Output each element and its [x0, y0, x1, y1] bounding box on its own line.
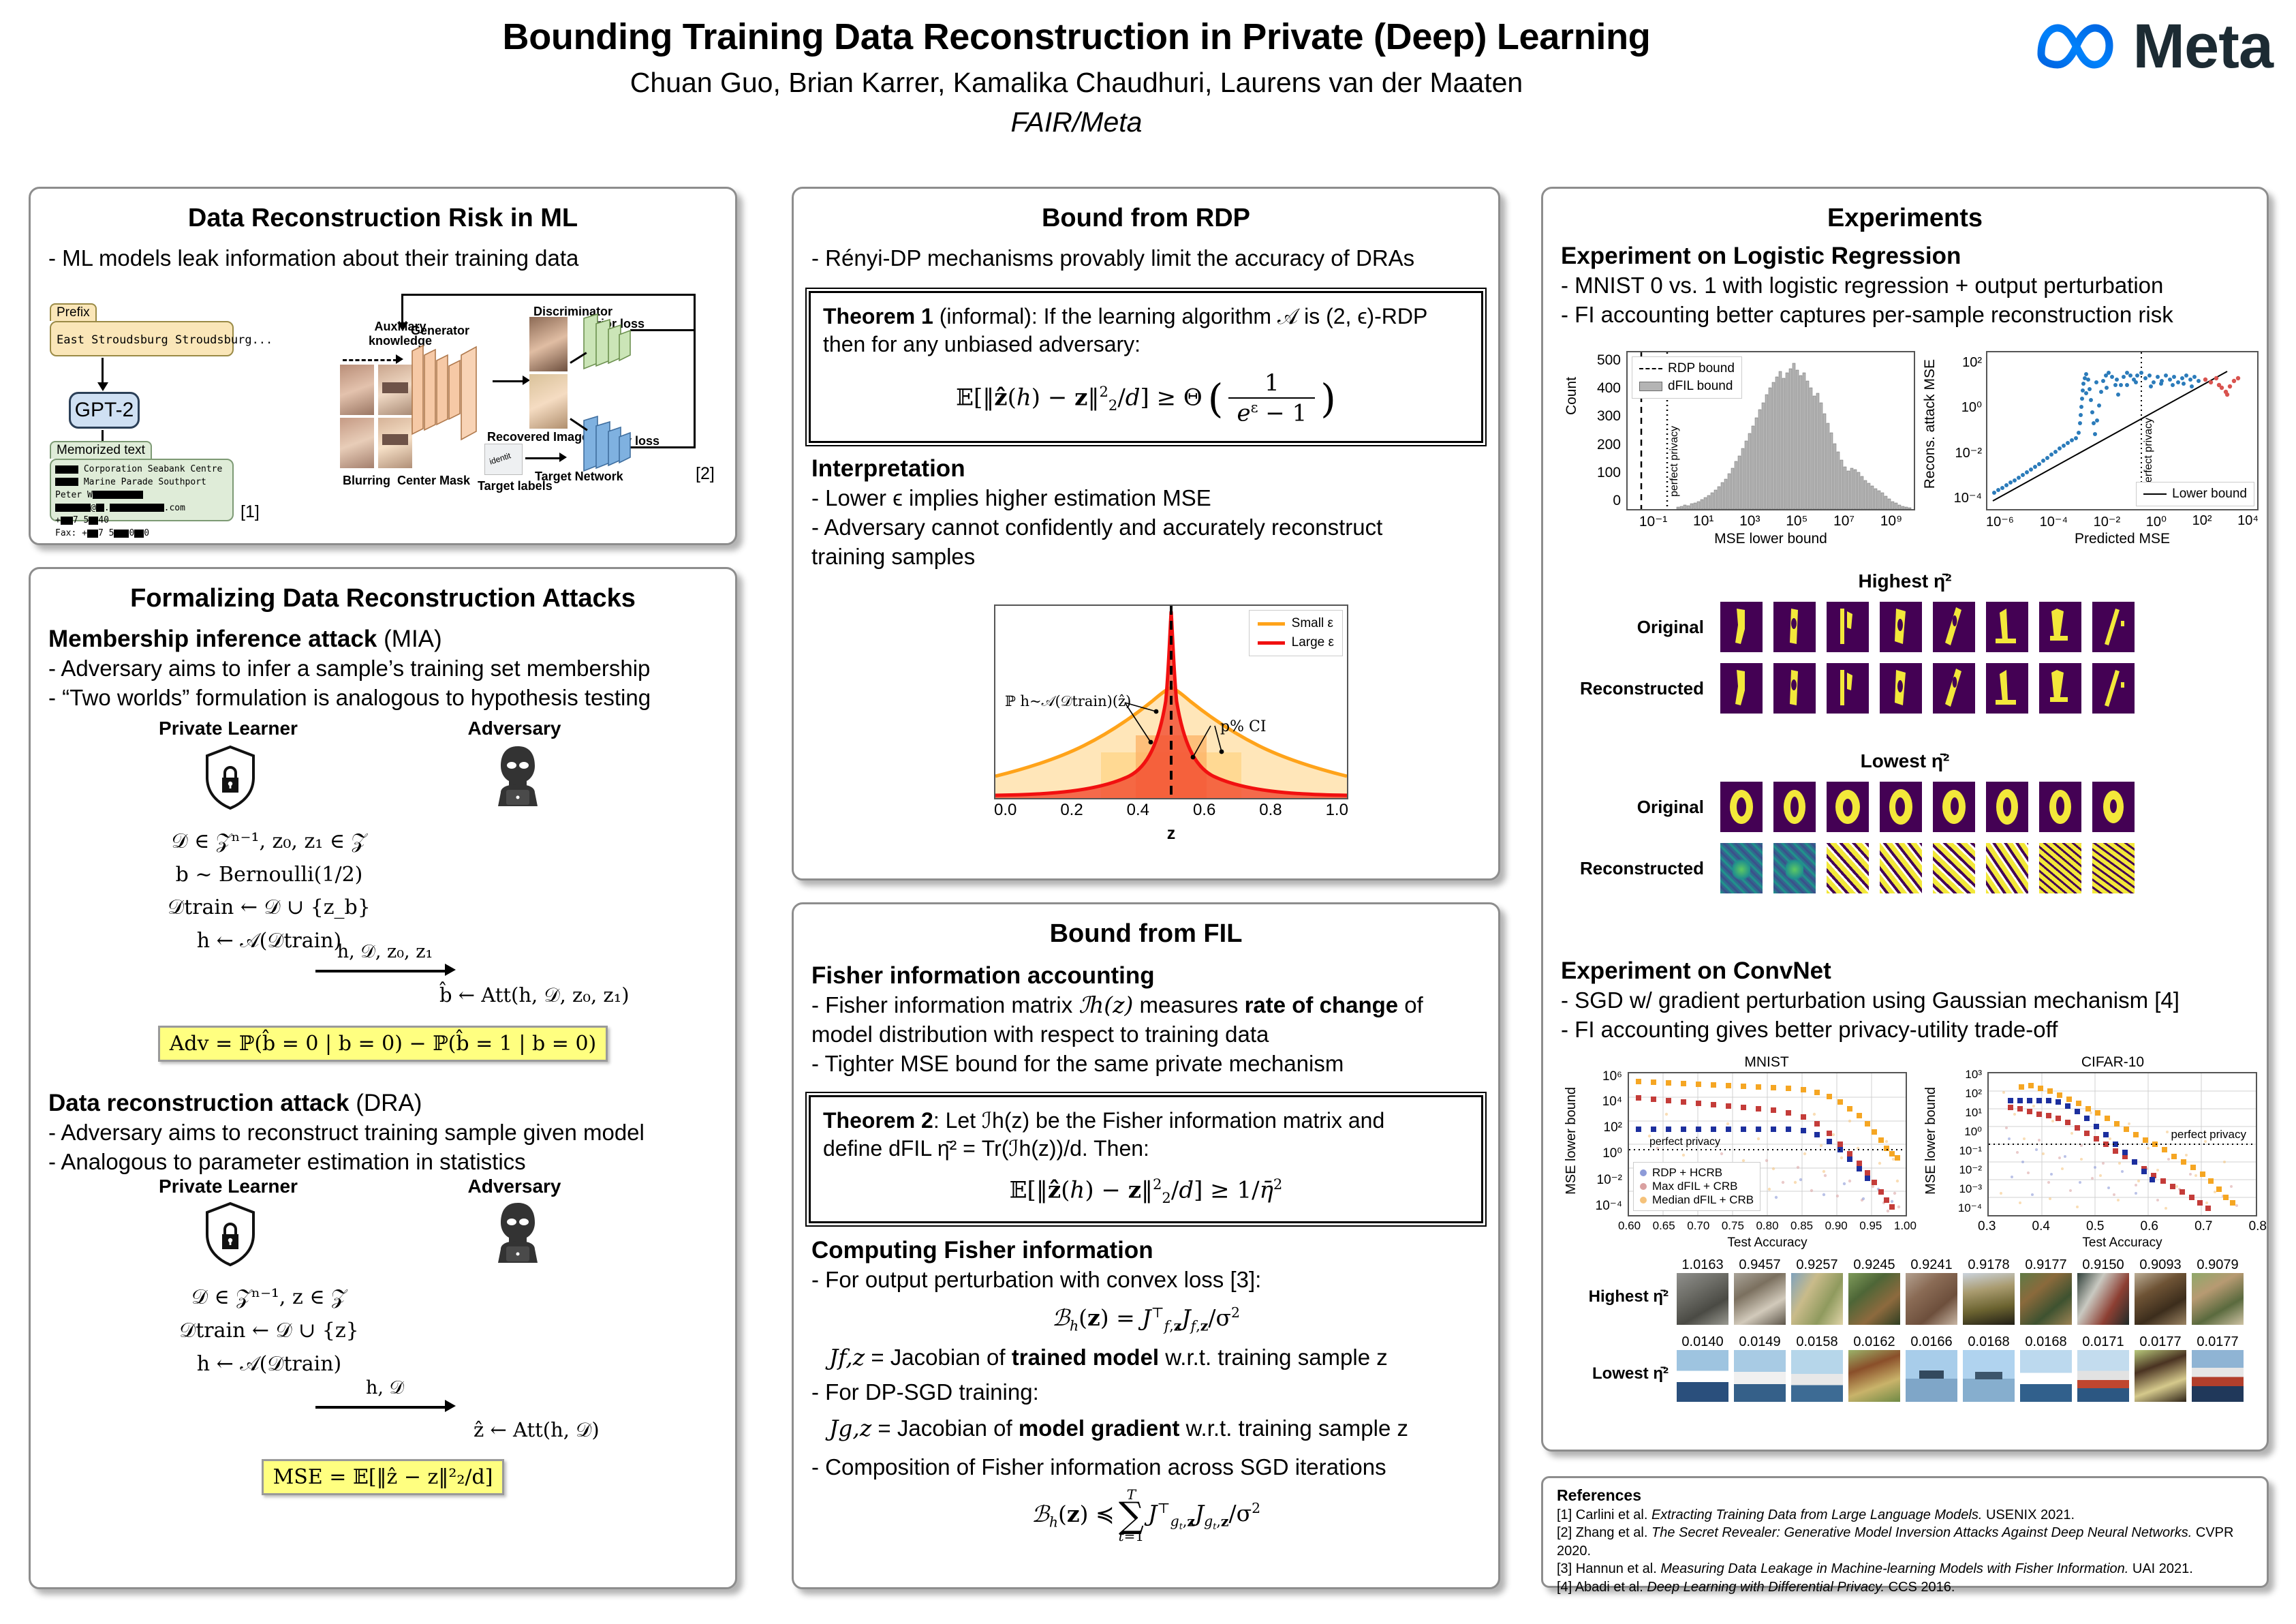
legend-label-large-eps: Large ε — [1292, 635, 1334, 650]
dra-bullet-1: - Adversary aims to reconstruct training… — [48, 1118, 645, 1148]
cifar-xlabel: Test Accuracy — [1987, 1236, 2257, 1251]
convnet-bullet-2: - FI accounting gives better privacy-uti… — [1561, 1015, 2179, 1045]
xtick: 0.4 — [2032, 1219, 2050, 1234]
xtick: 10⁰ — [2146, 513, 2167, 530]
cifar-thumb — [1791, 1273, 1843, 1325]
theorem-2-line-2: define dFIL η̄² = Tr(ℐh(z))/d. Then: — [823, 1135, 1469, 1163]
cifar-item: 0.9178 — [1963, 1257, 2015, 1325]
mnist-yticks: 10⁶ 10⁴ 10² 10⁰ 10⁻² 10⁻⁴ — [1577, 1069, 1622, 1214]
cifar-item: 0.0168 — [2020, 1334, 2072, 1402]
cifar-plot-area: perfect privacy — [1987, 1072, 2257, 1216]
mnist-original-row-low: Original — [1543, 782, 2267, 832]
convnet-section: Experiment on ConvNet - SGD w/ gradient … — [1543, 957, 2197, 1045]
ref-title: Measuring Data Leakage in Machine-learni… — [1660, 1561, 2128, 1576]
row-label-original: Original — [1543, 797, 1720, 818]
ytick: 500 — [1597, 352, 1621, 369]
mem-line-1: Corporation Seabank Centre — [84, 464, 223, 474]
cifar-thumb — [1848, 1350, 1900, 1402]
memorized-text: Corporation Seabank Centre Marine Parade… — [51, 460, 232, 540]
cifar-value: 0.9177 — [2020, 1257, 2072, 1273]
fi-accounting-section: Fisher information accounting - Fisher i… — [794, 962, 1498, 1079]
dra-arrow-head — [445, 1400, 456, 1412]
memorized-bubble: Memorized text Corporation Seabank Centr… — [50, 459, 234, 521]
xtick: 0.70 — [1687, 1219, 1709, 1233]
meta-infinity-icon — [2034, 18, 2119, 74]
cifar-value: 0.9457 — [1734, 1257, 1786, 1273]
digit-tile — [1933, 782, 1975, 832]
xtick: 1.00 — [1894, 1219, 1917, 1233]
scatter-legend: Lower bound — [2136, 482, 2254, 506]
ref-title: Deep Learning with Differential Privacy. — [1647, 1580, 1884, 1595]
mia-arrow-head — [445, 964, 456, 976]
fi-b1-a: - Fisher information matrix — [811, 992, 1079, 1017]
digit-tile — [1880, 602, 1922, 652]
panel-references: References [1] Carlini et al. Extracting… — [1541, 1476, 2269, 1588]
row-label-original: Original — [1543, 617, 1720, 638]
panel-title: Experiments — [1543, 204, 2267, 233]
cifar-item: 0.0140 — [1677, 1334, 1728, 1402]
prefix-text: East Stroudsburg Stroudsburg... — [51, 322, 232, 347]
figure-model-inversion: Auxiliary knowledge Generator Discrimina… — [317, 288, 719, 524]
mnist-highest-group: Highest η̄² Original Reconstructed — [1543, 570, 2267, 714]
interpretation-line-3: training samples — [811, 542, 1480, 572]
xtick: 0.4 — [1127, 801, 1149, 820]
cifar-item: 0.9257 — [1791, 1257, 1843, 1325]
ytick: 10³ — [1965, 1068, 1982, 1082]
theorem-2-box: Theorem 2: Let ℐh(z) be the Fisher infor… — [809, 1095, 1483, 1223]
mia-section: Membership inference attack (MIA) - Adve… — [31, 626, 735, 713]
ytick: 400 — [1597, 380, 1621, 397]
cifar-item: 1.0163 — [1677, 1257, 1728, 1325]
xtick: 10⁹ — [1880, 513, 1902, 530]
panel-formalizing-attacks: Formalizing Data Reconstruction Attacks … — [29, 567, 737, 1589]
logreg-heading: Experiment on Logistic Regression — [1561, 243, 2249, 270]
feedback-wire-right — [694, 294, 696, 448]
legend-item-max-dfil: Max dFIL + CRB — [1640, 1180, 1754, 1193]
mia-equations: 𝒟 ∈ 𝒵ⁿ⁻¹, z₀, z₁ ∈ 𝒵 b ~ Bernoulli(1/2) … — [106, 825, 433, 957]
digit-tile — [1827, 602, 1869, 652]
generator-label: Generator — [411, 324, 469, 338]
jacobian-g-symbol: Jg,z — [829, 1415, 871, 1441]
xtick: 0.75 — [1722, 1219, 1744, 1233]
legend-swatch-max-dfil — [1640, 1183, 1647, 1190]
cifar-value: 1.0163 — [1677, 1257, 1728, 1273]
hist-legend: RDP bound dFIL bound — [1632, 356, 1742, 399]
cifar-item: 0.9093 — [2135, 1257, 2186, 1325]
recovered-images-label: Recovered Images — [487, 430, 595, 444]
ytick: 10¹ — [1965, 1106, 1982, 1120]
ytick: 10² — [1962, 355, 1982, 371]
xtick: 10⁻² — [2094, 513, 2120, 530]
legend-item-rdp-bound: RDP bound — [1639, 361, 1735, 376]
mnist-lowest-group: Lowest η̄² Original Reconstructed — [1543, 750, 2267, 893]
mia-arrow-label: h, 𝒟, z₀, z₁ — [290, 941, 480, 963]
xtick: 0.80 — [1756, 1219, 1778, 1233]
digit-tile — [1933, 602, 1975, 652]
scatter-xticks: 10⁻⁶ 10⁻⁴ 10⁻² 10⁰ 10² 10⁴ — [1986, 513, 2259, 530]
labels-arrow-head — [559, 453, 567, 462]
cifar-thumb — [1906, 1273, 1957, 1325]
xtick: 0.95 — [1859, 1219, 1882, 1233]
ytick: 10⁻¹ — [1959, 1144, 1982, 1158]
cifar-thumb — [2020, 1273, 2072, 1325]
cifar-item: 0.0162 — [1848, 1334, 1900, 1402]
center-mask-label: Center Mask — [397, 474, 470, 488]
theorem-1-text-1: (informal): If the learning algorithm 𝒜 … — [933, 304, 1428, 328]
interpretation-line-1: - Lower ϵ implies higher estimation MSE — [811, 484, 1480, 513]
mia-bullet-1: - Adversary aims to infer a sample’s tra… — [48, 654, 717, 684]
legend-item-dfil-bound: dFIL bound — [1639, 379, 1735, 394]
cifar-annotation-perfect-privacy: perfect privacy — [2171, 1128, 2246, 1142]
cifar-item: 0.9177 — [2020, 1257, 2072, 1325]
aux-face-mask-1 — [378, 365, 412, 415]
fi-bullet-1: - Fisher information matrix ℐh(z) measur… — [811, 991, 1480, 1020]
fi-b1-e: of — [1398, 992, 1423, 1017]
mia-eq-3: 𝒟train ← 𝒟 ∪ {z_b} — [106, 891, 433, 925]
xtick: 0.5 — [2086, 1219, 2104, 1234]
mnist-plot-area: perfect privacy RDP + HCRB Max dFIL + CR… — [1628, 1072, 1907, 1216]
legend-swatch-small-eps — [1258, 622, 1285, 626]
dra-bullet-2: - Analogous to parameter estimation in s… — [48, 1148, 645, 1177]
digit-tile — [2092, 602, 2135, 652]
density-xlabel: z — [994, 824, 1348, 844]
rdp-bullet: - Rényi-DP mechanisms provably limit the… — [794, 244, 1498, 273]
ytick: 10⁰ — [1964, 1125, 1982, 1139]
dra-arrow-label: h, 𝒟 — [303, 1377, 467, 1399]
hist-xlabel: MSE lower bound — [1626, 531, 1915, 547]
theorem-2-label: Theorem 2 — [823, 1108, 933, 1133]
fi-b1-math: ℐh(z) — [1079, 992, 1133, 1018]
dra-equations: 𝒟 ∈ 𝒵ⁿ⁻¹, z ∈ 𝒵 𝒟train ← 𝒟 ∪ {z} h ← 𝒜(𝒟… — [106, 1281, 433, 1381]
cifar-value: 0.9079 — [2192, 1257, 2244, 1273]
legend-item-rdp-hcrb: RDP + HCRB — [1640, 1166, 1754, 1180]
scatter-annotation-perfect-privacy: perfect privacy — [2143, 418, 2155, 489]
theorem-2-line-1: Theorem 2: Let ℐh(z) be the Fisher infor… — [823, 1107, 1469, 1135]
ytick: 10⁻⁴ — [1954, 489, 1982, 506]
computing-line-3: Jg,z = Jacobian of model gradient w.r.t.… — [829, 1414, 1480, 1443]
cifar-item: 0.0166 — [1906, 1334, 1957, 1402]
density-annotation-ci: p% CI — [1220, 718, 1267, 735]
mia-diagram: Private Learner Adversary 𝒟 ∈ 𝒵ⁿ⁻¹, z₀, … — [31, 718, 735, 1072]
panel-bound-from-rdp: Bound from RDP - Rényi-DP mechanisms pro… — [792, 187, 1500, 880]
scatter-yticks: 10² 10⁰ 10⁻² 10⁻⁴ — [1938, 355, 1982, 506]
digit-tile-noisy — [1827, 843, 1869, 893]
xtick: 0.2 — [1060, 801, 1083, 820]
ytick: 10⁴ — [1602, 1094, 1622, 1109]
legend-label-median-dfil: Median dFIL + CRB — [1652, 1193, 1754, 1207]
cifar-value: 0.9241 — [1906, 1257, 1957, 1273]
dra-heading-bold: Data reconstruction attack — [48, 1090, 350, 1116]
cifar-value: 0.9093 — [2135, 1257, 2186, 1273]
prefix-tag: Prefix — [50, 303, 97, 321]
digit-tile — [1880, 782, 1922, 832]
reference-item: [4] Abadi et al. Deep Learning with Diff… — [1557, 1578, 2253, 1596]
cifar-value: 0.0171 — [2077, 1334, 2129, 1350]
cifar-item: 0.9245 — [1848, 1257, 1900, 1325]
computing-bullet-3: - Composition of Fisher information acro… — [811, 1453, 1480, 1482]
title-block: Bounding Training Data Reconstruction in… — [204, 16, 1949, 138]
xtick: 10³ — [1739, 513, 1760, 530]
panel-title: Data Reconstruction Risk in ML — [31, 204, 735, 233]
xtick: 10⁴ — [2237, 513, 2259, 530]
mnist-original-row-high: Original — [1543, 602, 2267, 652]
theorem-1-line-1: Theorem 1 (informal): If the learning al… — [823, 303, 1469, 331]
xtick: 0.6 — [1193, 801, 1215, 820]
ytick: 10⁻² — [1959, 1163, 1982, 1177]
aux-arrow-head — [396, 354, 403, 364]
hist-yticks: 500 400 300 200 100 0 — [1579, 352, 1621, 509]
digit-tile — [1720, 782, 1763, 832]
digit-tile — [2039, 782, 2081, 832]
digit-tile-noisy — [1986, 843, 2028, 893]
legend-swatch-rdp-hcrb — [1640, 1169, 1647, 1176]
cifar-yticks: 10³ 10² 10¹ 10⁰ 10⁻¹ 10⁻² 10⁻³ 10⁻⁴ — [1937, 1068, 1982, 1215]
blurring-label: Blurring — [343, 474, 390, 488]
ytick: 10⁰ — [1602, 1146, 1622, 1161]
xtick: 10² — [2192, 513, 2212, 530]
legend-label-dfil: dFIL bound — [1668, 379, 1733, 394]
cifar-item: 0.0177 — [2135, 1334, 2186, 1402]
digit-tile — [1773, 602, 1816, 652]
c-l2-d: w.r.t. training sample z — [1159, 1345, 1388, 1370]
computing-bullet-2: - For DP-SGD training: — [811, 1378, 1480, 1407]
fi-b1-c: measures — [1133, 992, 1244, 1017]
cifar-thumb — [1963, 1350, 2015, 1402]
mnist-xlabel: Test Accuracy — [1628, 1236, 1907, 1251]
cifar-highest-row: Highest η̄² 1.0163 0.9457 0.9257 0.9245 … — [1555, 1257, 2261, 1325]
hacker-icon — [488, 744, 547, 812]
ref-num: [4] — [1557, 1580, 1575, 1595]
mnist-recon-row-high: Reconstructed — [1543, 663, 2267, 714]
theorem-1-label: Theorem 1 — [823, 304, 933, 328]
ref-title: Extracting Training Data from Large Lang… — [1651, 1507, 1982, 1522]
theorem-2-equation: 𝔼[‖ẑ(h) − z‖22/d] ≥ 1/η̄2 — [823, 1176, 1469, 1206]
xtick: 0.3 — [1978, 1219, 1996, 1234]
panel-data-reconstruction-risk: Data Reconstruction Risk in ML - ML mode… — [29, 187, 737, 545]
xtick: 0.65 — [1653, 1219, 1675, 1233]
cifar-item: 0.9241 — [1906, 1257, 1957, 1325]
cifar-thumb — [1963, 1273, 2015, 1325]
legend-swatch-large-eps — [1258, 641, 1285, 645]
theorem-1-equation: 𝔼[‖ẑ(h) − z‖22/d] ≥ Θ ( 1 eε − 1 ) — [823, 371, 1469, 426]
xtick: 0.6 — [2141, 1219, 2158, 1234]
gpt2-box: GPT-2 — [69, 392, 140, 429]
mnist-tiles-original-high — [1720, 602, 2135, 652]
cifar-thumb — [2077, 1273, 2129, 1325]
mia-adversary-label: Adversary — [439, 718, 589, 739]
ytick: 10² — [1604, 1120, 1622, 1135]
cifar-thumb — [2077, 1350, 2129, 1402]
cifar-xticks: 0.3 0.4 0.5 0.6 0.7 0.8 — [1978, 1219, 2267, 1234]
panel-title: Formalizing Data Reconstruction Attacks — [31, 584, 735, 613]
cifar-value: 0.9257 — [1791, 1257, 1843, 1273]
target-labels-thumb: identit — [484, 444, 523, 475]
digit-tile-noisy — [1720, 843, 1763, 893]
row-label-reconstructed: Reconstructed — [1543, 858, 1720, 879]
digit-tile — [1773, 663, 1816, 714]
generator-slabs-icon — [409, 339, 498, 448]
digit-tile — [1986, 782, 2028, 832]
cifar-item: 0.0158 — [1791, 1334, 1843, 1402]
theorem-1-box: Theorem 1 (informal): If the learning al… — [809, 291, 1483, 443]
cifar-value: 0.0149 — [1734, 1334, 1786, 1350]
cifar-thumb — [2135, 1273, 2186, 1325]
ytick: 10⁻³ — [1959, 1182, 1982, 1196]
mia-heading: Membership inference attack (MIA) — [48, 626, 717, 653]
dra-diagram: Private Learner Adversary 𝒟 ∈ 𝒵ⁿ⁻¹, z ∈ … — [31, 1176, 735, 1503]
ytick: 10⁻⁴ — [1596, 1198, 1622, 1214]
digit-tile — [2092, 663, 2135, 714]
computing-equation-1: ℬh(z) = J⊤f,zJf,z/σ2 — [811, 1304, 1480, 1334]
digit-tile-noisy — [1773, 843, 1816, 893]
mnist-recon-row-low: Reconstructed — [1543, 843, 2267, 893]
cifar-value: 0.0166 — [1906, 1334, 1957, 1350]
legend-item-median-dfil: Median dFIL + CRB — [1640, 1193, 1754, 1207]
digit-tile-noisy — [2092, 843, 2135, 893]
xtick: 0.0 — [994, 801, 1017, 820]
mse-definition-box: MSE = 𝔼[‖ẑ − z‖²₂/d] — [262, 1459, 505, 1495]
cifar-lowest-label: Lowest η̄² — [1555, 1334, 1677, 1383]
cifar-points — [1989, 1073, 2256, 1215]
mnist-tiles-recon-low — [1720, 843, 2135, 893]
cifar-chart-title: CIFAR-10 — [1990, 1054, 2235, 1071]
xtick: 1.0 — [1326, 801, 1348, 820]
discriminator-slabs-icon — [581, 313, 642, 378]
mnist-chart-title: MNIST — [1644, 1054, 1889, 1071]
row-label-reconstructed: Reconstructed — [1543, 678, 1720, 699]
scatter-ylabel: Recons. attack MSE — [1922, 359, 1938, 489]
ytick: 10² — [1965, 1087, 1982, 1101]
cifar-item: 0.9457 — [1734, 1257, 1786, 1325]
cifar-value: 0.0158 — [1791, 1334, 1843, 1350]
mia-heading-rest: (MIA) — [377, 626, 441, 652]
aux-dashed-arrow — [343, 359, 397, 361]
reference-item: [2] Zhang et al. The Secret Revealer: Ge… — [1557, 1524, 2253, 1560]
hist-xticks: 10⁻¹ 10¹ 10³ 10⁵ 10⁷ 10⁹ — [1626, 513, 1915, 530]
ytick: 10⁶ — [1602, 1069, 1622, 1084]
hacker-icon — [488, 1200, 547, 1268]
mia-eq-2: b ~ Bernoulli(1/2) — [106, 859, 433, 892]
dra-eq-2: 𝒟train ← 𝒟 ∪ {z} — [106, 1314, 433, 1347]
xtick: 0.7 — [2194, 1219, 2212, 1234]
interpretation-section: Interpretation - Lower ϵ implies higher … — [794, 455, 1498, 572]
gen-out-arrow — [493, 380, 524, 382]
cifar-item: 0.0149 — [1734, 1334, 1786, 1402]
author-list: Chuan Guo, Brian Karrer, Kamalika Chaudh… — [204, 67, 1949, 99]
xtick: 10⁻⁶ — [1986, 513, 2014, 530]
cifar-thumb — [1791, 1350, 1843, 1402]
logreg-bullet-2: - FI accounting better captures per-samp… — [1561, 301, 2249, 330]
digit-tile — [1720, 663, 1763, 714]
references-title: References — [1557, 1486, 2253, 1505]
cifar-value: 0.9150 — [2077, 1257, 2129, 1273]
dra-heading: Data reconstruction attack (DRA) — [48, 1090, 645, 1117]
legend-item-small-eps: Small ε — [1258, 616, 1334, 631]
convnet-heading: Experiment on ConvNet — [1561, 957, 2179, 985]
mia-heading-bold: Membership inference attack — [48, 626, 377, 652]
cifar-thumb — [1734, 1273, 1786, 1325]
ytick: 100 — [1597, 465, 1621, 481]
cifar-lowest-row: Lowest η̄² 0.0140 0.0149 0.0158 0.0162 0… — [1555, 1334, 2261, 1402]
computing-fi-section: Computing Fisher information - For outpu… — [794, 1237, 1498, 1542]
cifar-value: 0.0140 — [1677, 1334, 1728, 1350]
logreg-section: Experiment on Logistic Regression - MNIS… — [1543, 243, 2267, 330]
mia-bullet-2: - “Two worlds” formulation is analogous … — [48, 684, 717, 713]
chart-mnist-tradeoff: MNIST MSE lower bound 10⁶ 10⁴ 10² 10⁰ 10… — [1562, 1054, 1917, 1259]
xtick: 10⁻¹ — [1639, 513, 1667, 530]
legend-label-rdp-hcrb: RDP + HCRB — [1652, 1166, 1722, 1180]
mnist-highest-title: Highest η̄² — [1543, 570, 2267, 592]
aux-face-blur-1 — [340, 365, 374, 415]
cifar-value: 0.0168 — [2020, 1334, 2072, 1350]
cifar-thumb — [2020, 1350, 2072, 1402]
mia-private-learner-label: Private Learner — [153, 718, 303, 739]
legend-label-lower-bound: Lower bound — [2172, 487, 2247, 502]
adv-definition-box: Adv = ℙ(b̂ = 0 | b = 0) − ℙ(b̂ = 1 | b =… — [158, 1026, 608, 1062]
citation-1: [1] — [241, 502, 260, 522]
memorized-tag: Memorized text — [50, 441, 152, 459]
cifar-thumb — [2192, 1350, 2244, 1402]
xtick: 10⁻⁴ — [2040, 513, 2068, 530]
c-l3-bold: model gradient — [1019, 1415, 1180, 1441]
cifar-value: 0.0177 — [2135, 1334, 2186, 1350]
fi-b1-bold: rate of change — [1245, 992, 1399, 1017]
recovered-face-2 — [529, 374, 568, 429]
xtick: 0.90 — [1825, 1219, 1848, 1233]
cifar-image-rows: Highest η̄² 1.0163 0.9457 0.9257 0.9245 … — [1555, 1257, 2261, 1402]
cifar-item: 0.0168 — [1963, 1334, 2015, 1402]
ref-authors: Hannun et al. — [1576, 1561, 1661, 1576]
dra-adversary-label: Adversary — [439, 1176, 589, 1197]
digit-tile-noisy — [1933, 843, 1975, 893]
mia-eq-1: 𝒟 ∈ 𝒵ⁿ⁻¹, z₀, z₁ ∈ 𝒵 — [106, 825, 433, 859]
chart-histogram: Count 500 400 300 200 100 0 — [1564, 344, 1918, 549]
cifar-thumb — [2135, 1350, 2186, 1402]
convnet-bullet-1: - SGD w/ gradient perturbation using Gau… — [1561, 986, 2179, 1015]
meta-logo: Meta — [2034, 15, 2273, 78]
ref-authors: Abadi et al. — [1575, 1580, 1647, 1595]
dra-highlight-wrap: MSE = 𝔼[‖ẑ − z‖²₂/d] — [31, 1459, 735, 1495]
legend-item-large-eps: Large ε — [1258, 635, 1334, 650]
shield-lock-icon — [204, 745, 257, 810]
citation-2: [2] — [696, 464, 715, 484]
digit-tile — [1986, 663, 2028, 714]
theorem-2-text-1: : Let ℐh(z) be the Fisher information ma… — [933, 1108, 1384, 1133]
panel-bound-from-fil: Bound from FIL Fisher information accoun… — [792, 902, 1500, 1589]
prefix-bubble: Prefix East Stroudsburg Stroudsburg... — [50, 321, 234, 356]
ytick: 10⁻⁴ — [1958, 1201, 1982, 1215]
density-legend: Small ε Large ε — [1249, 610, 1343, 656]
legend-swatch-lower-bound — [2143, 493, 2167, 495]
cifar-value: 0.0168 — [1963, 1334, 2015, 1350]
ref-authors: Carlini et al. — [1576, 1507, 1651, 1522]
dra-eq-3: h ← 𝒜(𝒟train) — [106, 1347, 433, 1381]
figure-gpt2-memorization: Prefix East Stroudsburg Stroudsburg... G… — [47, 306, 320, 524]
cifar-thumb — [1848, 1273, 1900, 1325]
ref-authors: Zhang et al. — [1576, 1525, 1651, 1540]
panel-title: Bound from RDP — [794, 204, 1498, 233]
arrow-down-1 — [102, 358, 104, 384]
mnist-tiles-original-low — [1720, 782, 2135, 832]
computing-line-2: Jf,z = Jacobian of trained model w.r.t. … — [829, 1343, 1480, 1373]
cifar-item: 0.9079 — [2192, 1257, 2244, 1325]
cifar-lowest-tiles: 0.0140 0.0149 0.0158 0.0162 0.0166 0.016… — [1677, 1334, 2244, 1402]
ytick: 200 — [1597, 437, 1621, 453]
cifar-thumb — [1906, 1350, 1957, 1402]
ref-num: [1] — [1557, 1507, 1576, 1522]
density-plot-area: Small ε Large ε ℙ h~𝒜(𝒟train)(ẑ) p% CI — [994, 604, 1348, 799]
interpretation-line-2: - Adversary cannot confidently and accur… — [811, 513, 1480, 542]
